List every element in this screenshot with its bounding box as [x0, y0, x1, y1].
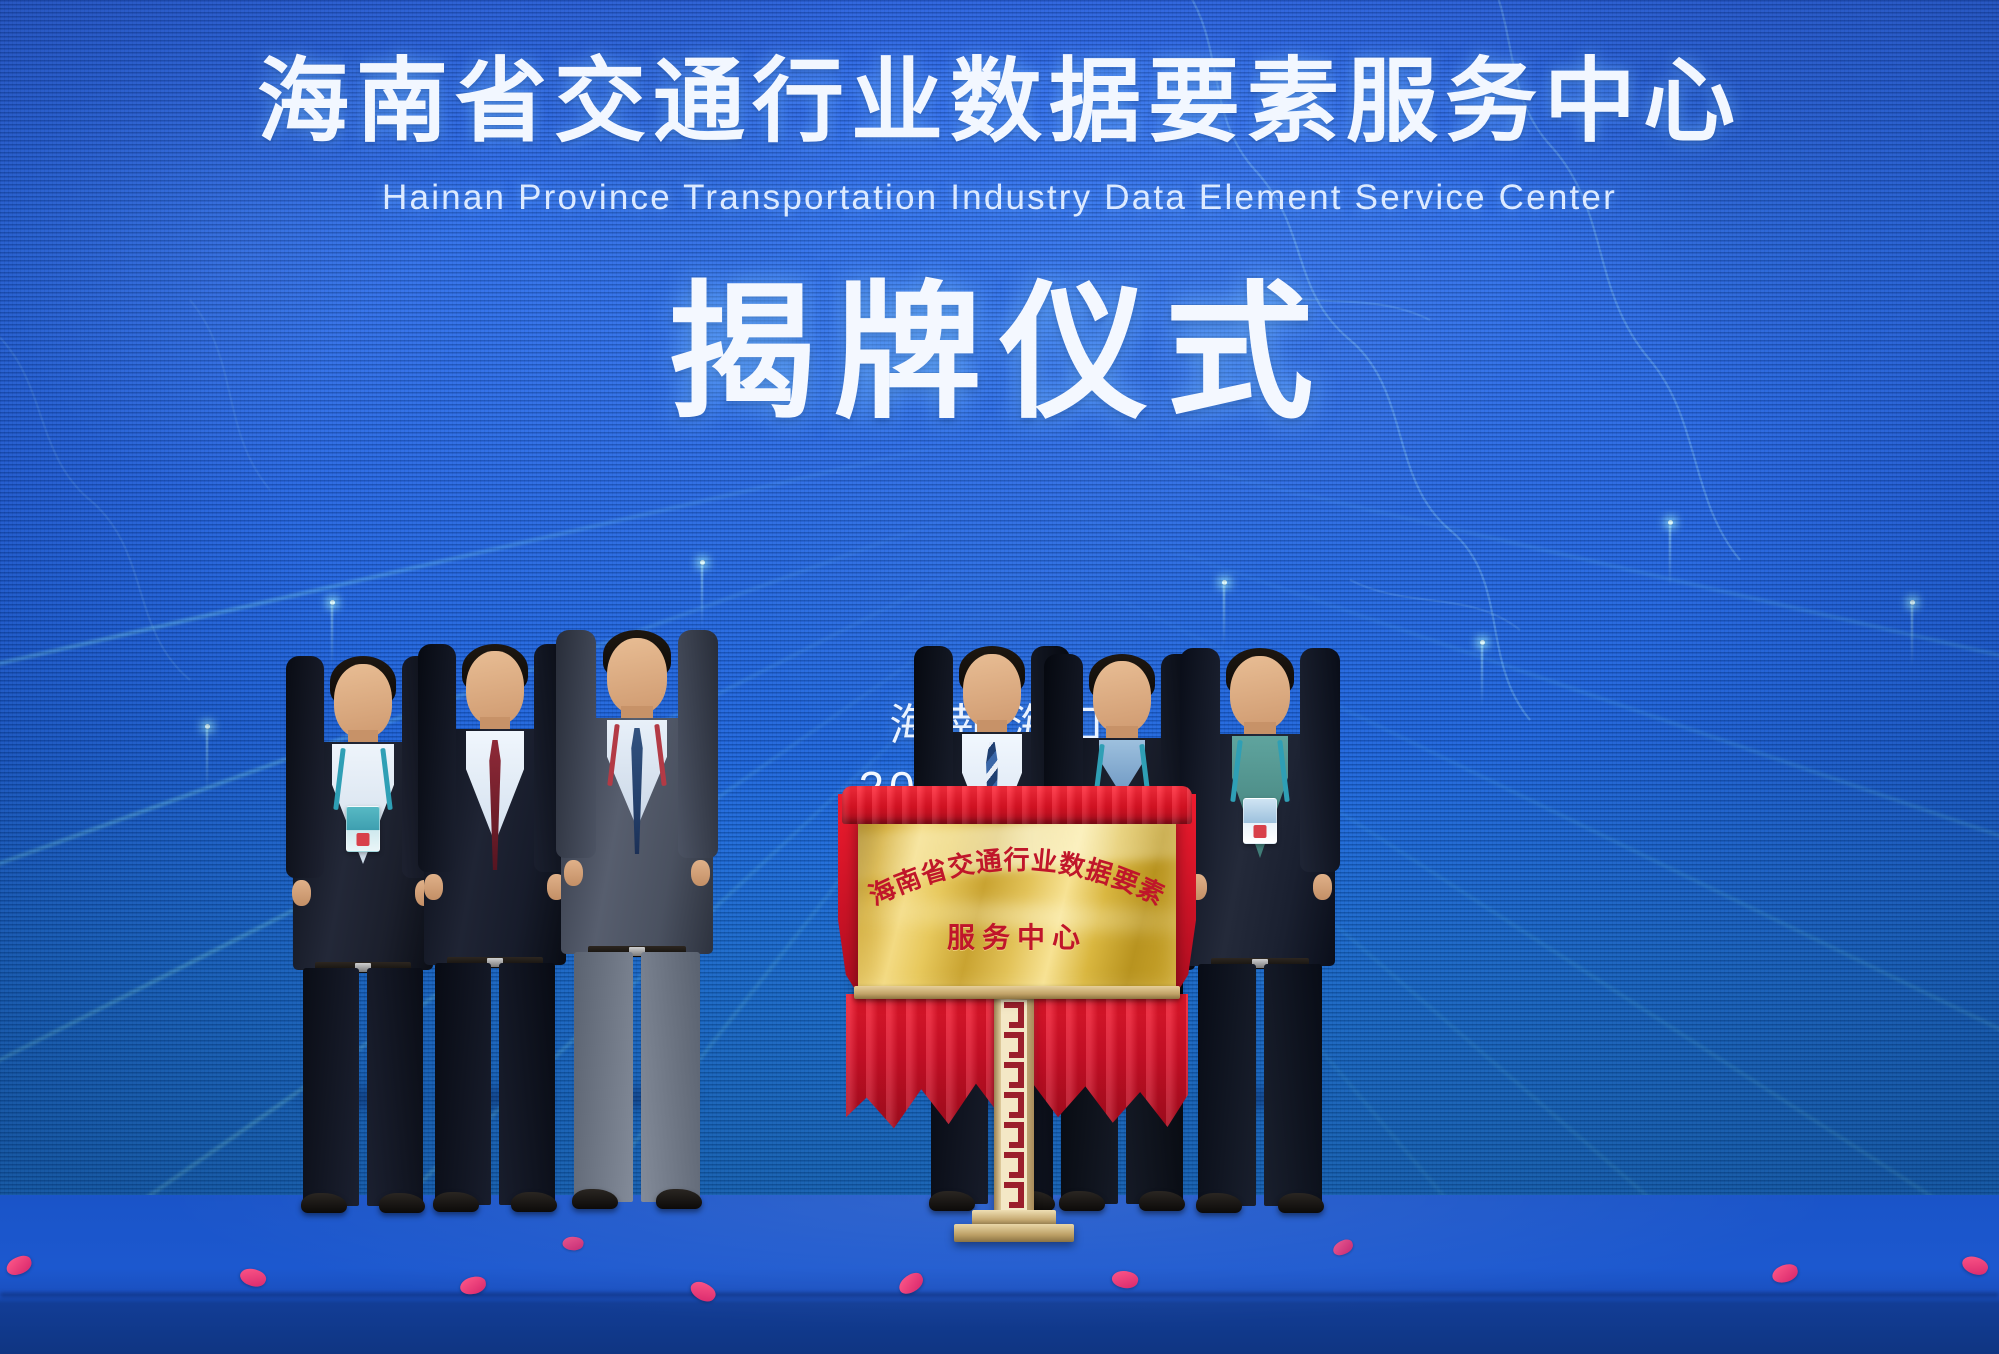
plaque-support-rail	[854, 986, 1180, 999]
screen-title-english: Hainan Province Transportation Industry …	[0, 178, 1999, 218]
leg-left	[303, 968, 359, 1206]
participant-person-3	[558, 630, 716, 1226]
leg-left	[1198, 964, 1256, 1206]
greek-key-lattice-pattern	[1001, 1000, 1027, 1210]
hand-left	[424, 874, 443, 900]
glow-particle	[700, 560, 705, 565]
hand-left	[292, 880, 311, 906]
arm-left	[556, 630, 596, 858]
name-badge	[1243, 798, 1277, 844]
head	[466, 651, 524, 725]
hand-right	[1313, 874, 1332, 900]
legs	[572, 952, 702, 1204]
hand-left	[564, 860, 583, 886]
screen-headline: 揭牌仪式	[0, 280, 1999, 428]
legs	[1196, 964, 1324, 1208]
ceremony-photo: 海南省交通行业数据要素服务中心 Hainan Province Transpor…	[0, 0, 1999, 1354]
shoe-left	[433, 1192, 479, 1212]
glow-particle	[1480, 640, 1485, 645]
head	[1230, 656, 1290, 730]
shoe-left	[301, 1193, 347, 1213]
leg-right	[641, 952, 700, 1202]
hand-right	[691, 860, 710, 886]
lanyard	[335, 748, 391, 810]
legs	[433, 963, 557, 1207]
arm-right	[678, 630, 718, 858]
participant-person-6	[1182, 648, 1338, 1226]
glow-particle	[1222, 580, 1227, 585]
leg-left	[574, 952, 633, 1202]
head	[607, 638, 667, 714]
glow-particle	[330, 600, 335, 605]
stage-front-edge	[0, 1293, 1999, 1297]
arm-left	[418, 644, 456, 872]
stand-base-lower	[954, 1224, 1074, 1242]
legs	[301, 968, 425, 1208]
gold-plaque: 海南省交通行业数据要素 服务中心	[858, 810, 1176, 990]
lanyard	[1232, 740, 1288, 802]
shoe-left	[1196, 1193, 1242, 1213]
participant-person-2	[420, 644, 570, 1226]
shoe-right	[511, 1192, 557, 1212]
leg-right	[367, 968, 423, 1206]
shoe-right	[379, 1193, 425, 1213]
head	[963, 654, 1021, 728]
head	[1093, 661, 1151, 733]
leg-left	[435, 963, 491, 1205]
screen-title-chinese: 海南省交通行业数据要素服务中心	[0, 56, 1999, 148]
leg-right	[1264, 964, 1322, 1206]
shoe-right	[656, 1189, 702, 1209]
glow-particle	[1910, 600, 1915, 605]
arm-left	[286, 656, 324, 878]
unveiling-plaque-assembly: 海南省交通行业数据要素 服务中心	[842, 786, 1192, 1256]
plaque-line1: 海南省交通行业数据要素	[865, 845, 1170, 912]
shoe-left	[572, 1189, 618, 1209]
plaque-stand-post	[994, 996, 1034, 1214]
head	[334, 664, 392, 738]
glow-particle	[1668, 520, 1673, 525]
leg-right	[499, 963, 555, 1205]
red-drape-top	[842, 786, 1192, 824]
arm-right	[1300, 648, 1340, 872]
shoe-right	[1278, 1193, 1324, 1213]
lanyard	[609, 724, 665, 786]
plaque-text-arc: 海南省交通行业数据要素	[858, 810, 1176, 920]
name-badge	[346, 806, 380, 852]
participant-person-1	[288, 656, 438, 1226]
plaque-line2: 服务中心	[858, 916, 1176, 956]
